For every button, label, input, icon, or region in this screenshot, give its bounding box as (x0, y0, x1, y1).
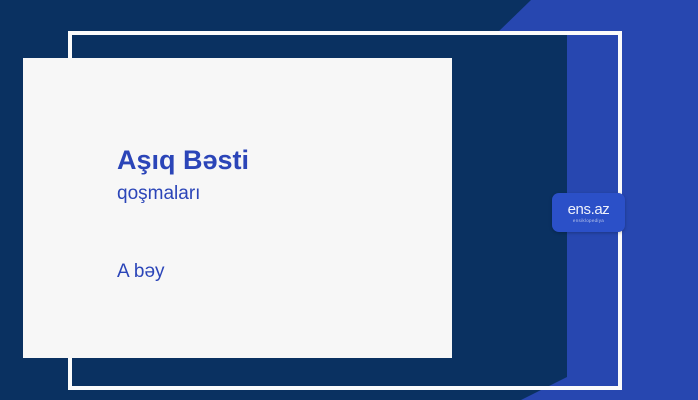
slide-subtitle: qoşmaları (117, 182, 447, 206)
logo-wordmark: ens.az (568, 202, 610, 217)
slide-author: A bəy (117, 260, 447, 284)
slide-canvas: Aşıq Bəsti qoşmaları A bəy ens.az ensikl… (0, 0, 698, 400)
content-card: Aşıq Bəsti qoşmaları A bəy (23, 58, 452, 358)
logo-tagline: ensiklopediya (573, 219, 604, 224)
ensaz-logo-badge[interactable]: ens.az ensiklopediya (552, 193, 625, 232)
slide-title: Aşıq Bəsti (117, 144, 447, 176)
text-block: Aşıq Bəsti qoşmaları A bəy (117, 144, 447, 284)
